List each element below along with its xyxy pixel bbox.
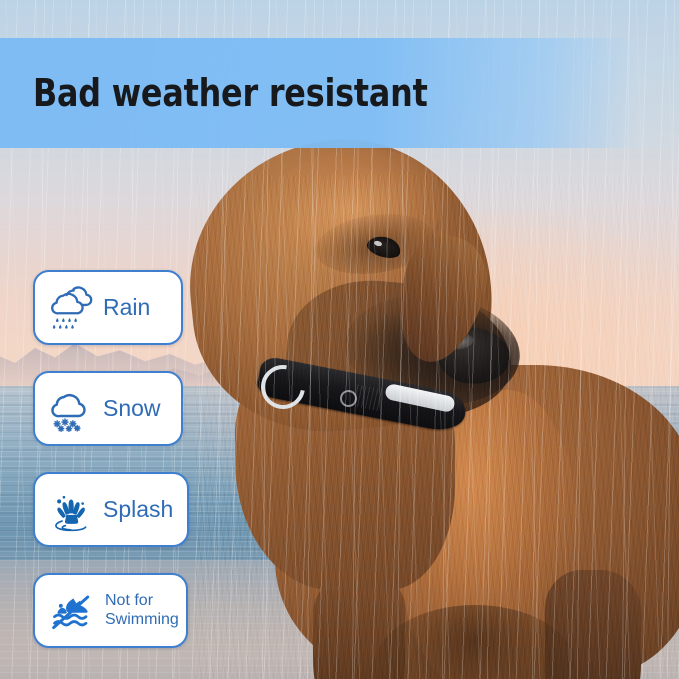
badge-snow[interactable]: Snow xyxy=(33,371,183,446)
badge-label-splash: Splash xyxy=(103,497,173,521)
page-title: Bad weather resistant xyxy=(33,71,428,115)
cloud-snow-icon xyxy=(43,380,101,438)
badge-label-not-for-swimming: Not for Swimming xyxy=(105,592,179,630)
header-banner: Bad weather resistant xyxy=(0,38,679,148)
badge-rain[interactable]: Rain xyxy=(33,270,183,345)
badge-label-rain: Rain xyxy=(103,295,150,319)
dog xyxy=(195,175,679,679)
badge-label-line-2: Swimming xyxy=(105,611,179,630)
badge-not-for-swimming[interactable]: Not for Swimming xyxy=(33,573,188,648)
no-swimming-dog-icon xyxy=(43,582,101,640)
water-splash-icon xyxy=(43,481,101,539)
badge-splash[interactable]: Splash xyxy=(33,472,189,547)
cloud-rain-icon xyxy=(43,279,101,337)
feature-badge-list: Rain xyxy=(33,270,189,648)
badge-label-snow: Snow xyxy=(103,396,161,420)
badge-label-line-1: Not for xyxy=(105,592,179,611)
product-feature-image: Bad weather resistant xyxy=(0,0,679,679)
